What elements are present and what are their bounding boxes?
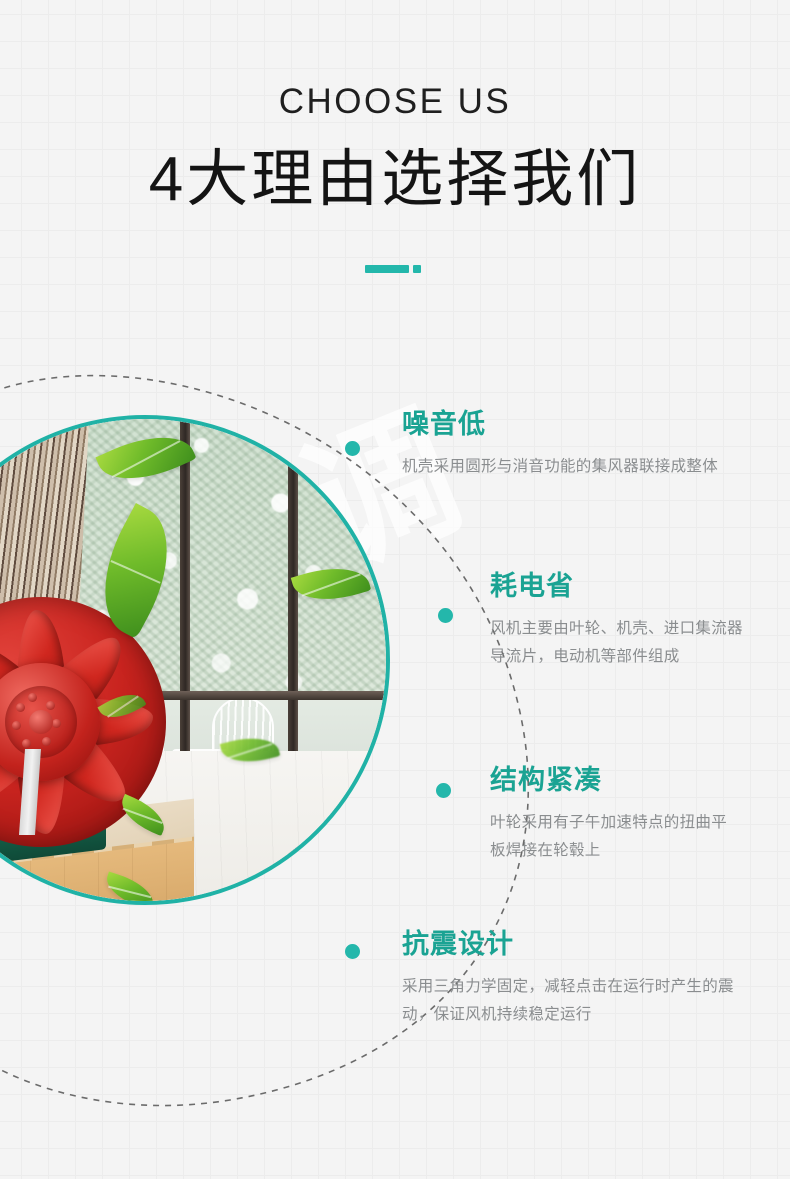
feature-description: 风机主要由叶轮、机壳、进口集流器导流片，电动机等部件组成 — [490, 615, 752, 671]
product-image-circle — [0, 415, 390, 905]
divider-dot — [413, 265, 421, 273]
feature-title: 噪音低 — [402, 410, 752, 440]
header-divider — [0, 264, 790, 274]
feature-block-4: 抗震设计 采用三角力学固定，减轻点击在运行时产生的震动，保证风机持续稳定运行 — [402, 930, 752, 1029]
hub-bolt — [52, 719, 61, 728]
connector-node-4 — [345, 944, 360, 959]
hub-bolt — [28, 693, 37, 702]
feature-title: 耗电省 — [490, 572, 760, 602]
feature-block-3: 结构紧凑 叶轮采用有子午加速特点的扭曲平板焊接在轮毂上 — [490, 766, 760, 865]
feature-description: 采用三角力学固定，减轻点击在运行时产生的震动，保证风机持续稳定运行 — [402, 973, 750, 1029]
hub-bolt — [12, 721, 21, 730]
connector-node-3 — [436, 783, 451, 798]
feature-title: 抗震设计 — [402, 930, 752, 960]
product-scene — [0, 419, 386, 901]
hub-bolt — [46, 701, 55, 710]
section-eyebrow: CHOOSE US — [0, 84, 790, 119]
feature-description: 机壳采用圆形与消音功能的集风器联接成整体 — [402, 453, 734, 481]
fan-hub-cap — [29, 710, 53, 734]
hub-bolt — [22, 739, 31, 748]
feature-title: 结构紧凑 — [490, 766, 760, 796]
infographic-page: 空调 小 CHOOSE US 4大理由选择我们 — [0, 0, 790, 1179]
divider-bar — [365, 265, 409, 273]
connector-node-1 — [345, 441, 360, 456]
hub-bolt — [16, 703, 25, 712]
feature-block-1: 噪音低 机壳采用圆形与消音功能的集风器联接成整体 — [402, 410, 752, 481]
feature-description: 叶轮采用有子午加速特点的扭曲平板焊接在轮毂上 — [490, 809, 738, 865]
hub-bolt — [42, 737, 51, 746]
connector-node-2 — [438, 608, 453, 623]
feature-block-2: 耗电省 风机主要由叶轮、机壳、进口集流器导流片，电动机等部件组成 — [490, 572, 760, 671]
page-title: 4大理由选择我们 — [0, 147, 790, 214]
section-header: CHOOSE US 4大理由选择我们 — [0, 84, 790, 214]
